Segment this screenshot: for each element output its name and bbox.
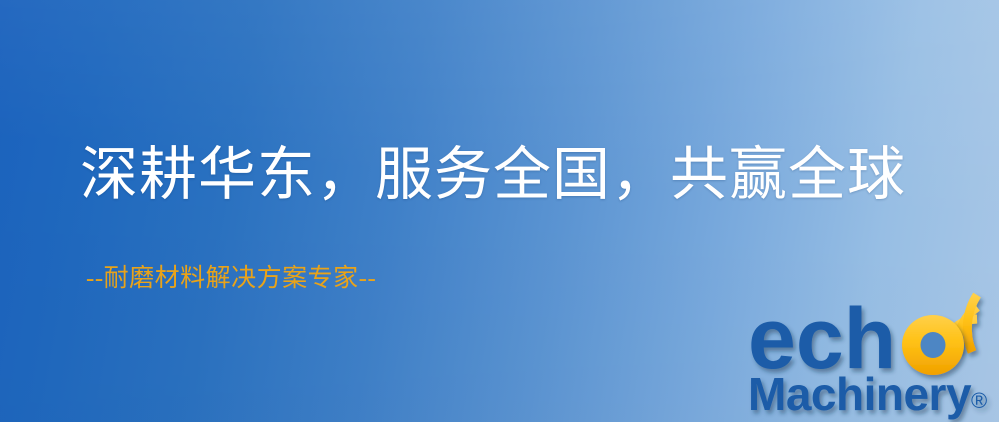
logo-echo-gold-o <box>902 315 964 375</box>
echo-machinery-logo: ech Machinery ® <box>748 296 999 422</box>
logo-registered-mark: ® <box>971 388 987 413</box>
logo-machinery-text: Machinery <box>748 368 972 420</box>
banner-headline: 深耕华东，服务全国，共赢全球 <box>80 146 906 204</box>
banner-subtitle: --耐磨材料解决方案专家-- <box>86 266 376 291</box>
hero-banner: 深耕华东，服务全国，共赢全球 --耐磨材料解决方案专家-- <box>0 0 999 422</box>
